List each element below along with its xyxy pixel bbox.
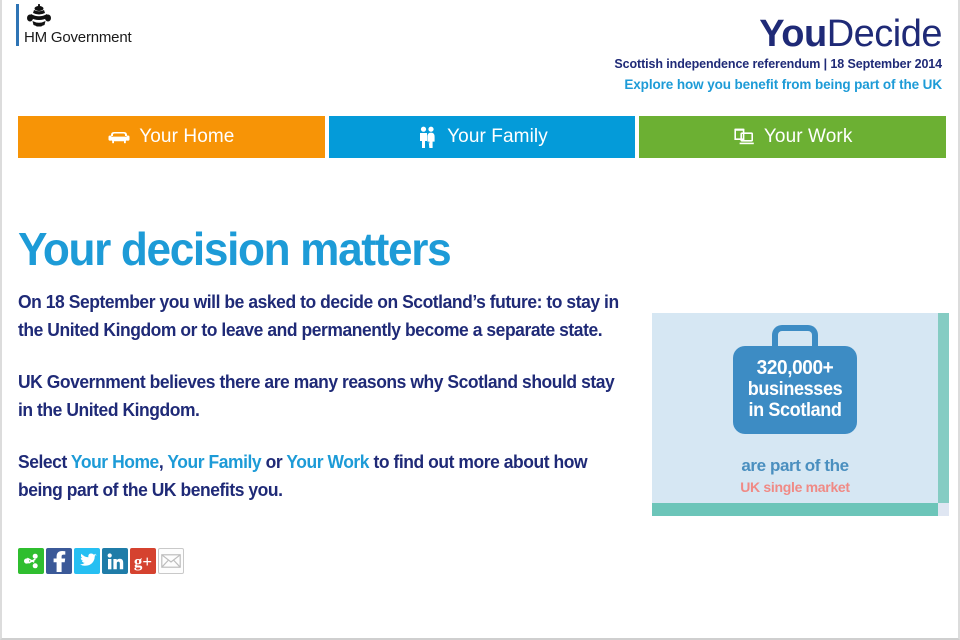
family-icon — [416, 126, 438, 148]
stat-label-1: businesses — [736, 379, 854, 400]
paragraph-1: On 18 September you will be asked to dec… — [18, 288, 619, 344]
brand-you: You — [759, 13, 826, 55]
brand-subtitle: Scottish independence referendum | 18 Se… — [614, 57, 942, 71]
p3-sep2: or — [261, 452, 286, 472]
briefcase-body: 320,000+ businesses in Scotland — [733, 346, 857, 434]
paragraph-2: UK Government believes there are many re… — [18, 368, 619, 424]
google-plus-icon: g+ — [134, 553, 152, 570]
email-icon — [161, 554, 181, 568]
brand-block: YouDecide Scottish independence referend… — [614, 14, 942, 92]
tab-your-work-label: Your Work — [764, 126, 853, 148]
stat-label-2: in Scotland — [736, 400, 854, 421]
primary-nav-tabs: Your Home Your Family — [18, 116, 946, 158]
page-root: HM Government YouDecide Scottish indepen… — [0, 0, 960, 640]
linkedin-button[interactable] — [102, 548, 128, 574]
logo-accent-bar — [16, 4, 19, 46]
tab-your-home[interactable]: Your Home — [18, 116, 325, 158]
twitter-icon — [78, 553, 97, 569]
intro-copy: On 18 September you will be asked to dec… — [18, 288, 638, 504]
linkedin-icon — [107, 553, 124, 570]
hm-government-logo: HM Government — [16, 4, 131, 46]
briefcase-icon: 320,000+ businesses in Scotland — [652, 325, 938, 434]
brand-title: YouDecide — [614, 14, 942, 54]
infographic-caption: are part of the UK single market — [652, 455, 938, 497]
main-content: Your decision matters On 18 September yo… — [2, 158, 958, 638]
tab-your-family[interactable]: Your Family — [329, 116, 636, 158]
infographic-card: 320,000+ businesses in Scotland are part… — [652, 313, 949, 520]
brand-decide: Decide — [827, 13, 942, 55]
brand-tagline: Explore how you benefit from being part … — [614, 77, 942, 92]
briefcase-handle — [772, 325, 818, 347]
page-title: Your decision matters — [18, 226, 450, 272]
share-icon — [23, 553, 39, 569]
tab-your-family-label: Your Family — [447, 126, 548, 148]
p3-pre: Select — [18, 452, 71, 472]
share-button[interactable] — [18, 548, 44, 574]
social-share-bar: g+ — [18, 548, 184, 574]
infographic-right-accent — [938, 313, 949, 503]
caption-line-1: are part of the — [652, 455, 938, 476]
royal-crest-icon — [24, 4, 54, 28]
site-header: HM Government YouDecide Scottish indepen… — [2, 0, 958, 112]
p3-sep1: , — [159, 452, 168, 472]
sofa-icon — [108, 126, 130, 148]
hm-government-label: HM Government — [24, 30, 131, 46]
email-button[interactable] — [158, 548, 184, 574]
laptop-icon — [733, 126, 755, 148]
facebook-button[interactable] — [46, 548, 72, 574]
link-your-home[interactable]: Your Home — [71, 452, 159, 472]
link-your-work[interactable]: Your Work — [286, 452, 369, 472]
google-plus-button[interactable]: g+ — [130, 548, 156, 574]
facebook-icon — [51, 550, 67, 572]
link-your-family[interactable]: Your Family — [167, 452, 261, 472]
twitter-button[interactable] — [74, 548, 100, 574]
tab-your-home-label: Your Home — [139, 126, 234, 148]
infographic-bottom-accent — [652, 503, 938, 516]
tab-your-work[interactable]: Your Work — [639, 116, 946, 158]
caption-line-2: UK single market — [652, 478, 938, 497]
paragraph-3: Select Your Home, Your Family or Your Wo… — [18, 448, 619, 504]
infographic-corner-accent — [938, 503, 949, 516]
stat-number: 320,000+ — [736, 358, 854, 379]
